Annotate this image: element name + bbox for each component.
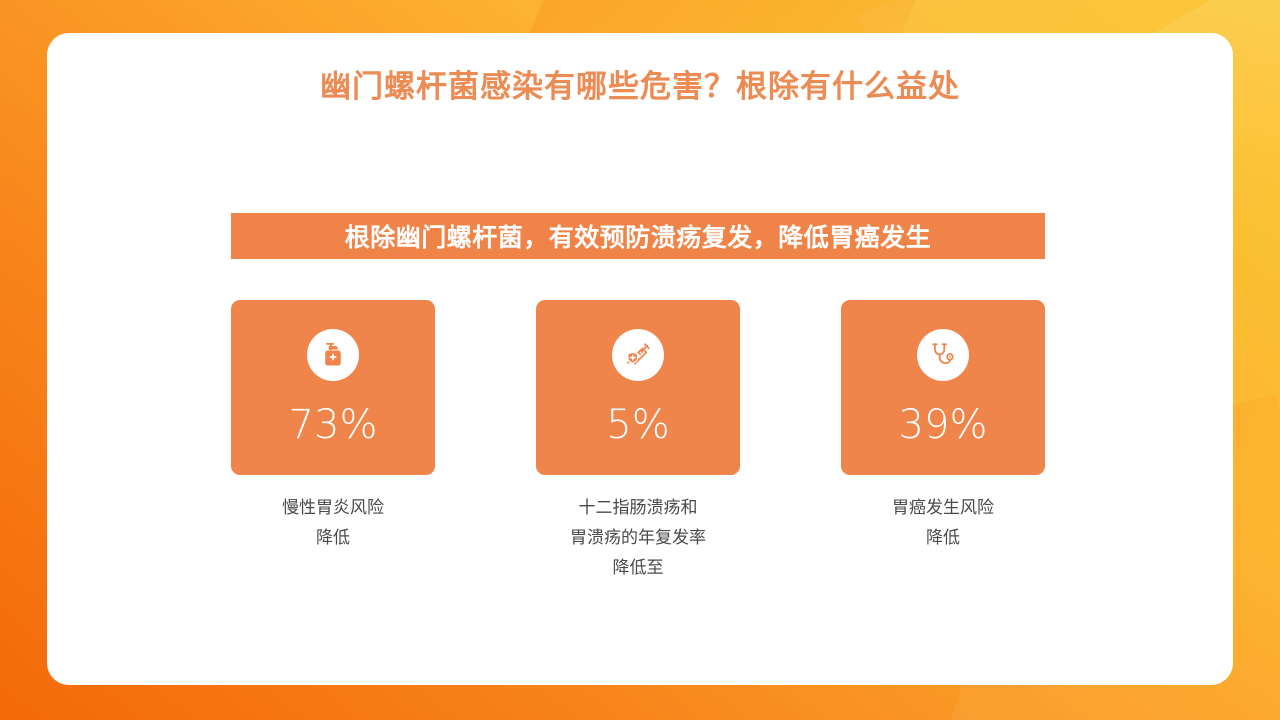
stat-item-chronic-gastritis: 73% 慢性胃炎风险 降低 [231, 300, 435, 583]
stat-caption-line: 慢性胃炎风险 [226, 493, 441, 523]
stats-row: 73% 慢性胃炎风险 降低 [231, 300, 1045, 583]
stat-value: 73% [231, 405, 435, 445]
highlight-banner: 根除幽门螺杆菌，有效预防溃疡复发，降低胃癌发生 [231, 213, 1045, 259]
highlight-banner-label: 根除幽门螺杆菌，有效预防溃疡复发，降低胃癌发生 [345, 218, 932, 254]
stat-tile[interactable]: 73% [231, 300, 435, 475]
stethoscope-icon [917, 329, 969, 381]
slide-canvas: 幽门螺杆菌感染有哪些危害？根除有什么益处 根除幽门螺杆菌，有效预防溃疡复发，降低… [0, 0, 1280, 720]
stat-caption-line: 十二指肠溃疡和 [531, 493, 746, 523]
stat-caption-line: 降低至 [531, 553, 746, 583]
content-card: 幽门螺杆菌感染有哪些危害？根除有什么益处 根除幽门螺杆菌，有效预防溃疡复发，降低… [47, 33, 1233, 685]
stat-caption: 十二指肠溃疡和 胃溃疡的年复发率 降低至 [531, 493, 746, 583]
stat-tile[interactable]: 39% [841, 300, 1045, 475]
stat-tile[interactable]: 5% [536, 300, 740, 475]
stat-caption-line: 降低 [226, 523, 441, 553]
stat-item-gastric-cancer: 39% 胃癌发生风险 降低 [841, 300, 1045, 583]
stat-caption-line: 胃癌发生风险 [836, 493, 1051, 523]
stat-value: 39% [841, 405, 1045, 445]
syringe-shield-icon [612, 329, 664, 381]
sanitizer-bottle-icon [307, 329, 359, 381]
stat-caption: 胃癌发生风险 降低 [836, 493, 1051, 553]
stat-caption-line: 降低 [836, 523, 1051, 553]
stat-value: 5% [536, 405, 740, 445]
stat-caption-line: 胃溃疡的年复发率 [531, 523, 746, 553]
stat-caption: 慢性胃炎风险 降低 [226, 493, 441, 553]
stat-item-ulcer-recurrence: 5% 十二指肠溃疡和 胃溃疡的年复发率 降低至 [536, 300, 740, 583]
page-title: 幽门螺杆菌感染有哪些危害？根除有什么益处 [47, 61, 1233, 106]
